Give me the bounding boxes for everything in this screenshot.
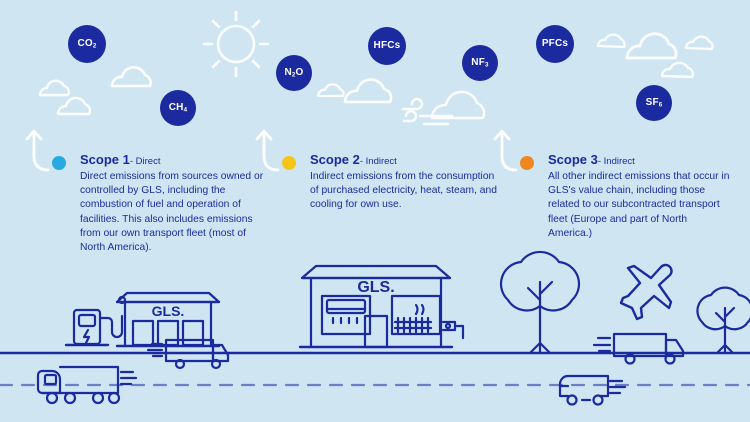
warehouse-wordmark: GLS. bbox=[357, 279, 394, 296]
infographic-canvas: CO2 CH4 N2O HFCs NF3 PFCs SF6 Scope 1- D… bbox=[0, 0, 750, 422]
airplane-icon bbox=[621, 265, 672, 319]
ev-charger-icon bbox=[66, 297, 125, 345]
small-van-icon bbox=[560, 376, 625, 405]
depot-building bbox=[117, 293, 219, 346]
truck-icon bbox=[594, 334, 683, 364]
tree-icon bbox=[501, 252, 579, 352]
radiator-icon bbox=[395, 305, 431, 332]
scene-layer: GLS. GLS. bbox=[0, 0, 750, 422]
air-conditioner-icon bbox=[327, 300, 365, 323]
tree-icon bbox=[697, 288, 750, 352]
depot-wordmark: GLS. bbox=[152, 303, 185, 319]
water-tap-icon bbox=[443, 322, 463, 338]
